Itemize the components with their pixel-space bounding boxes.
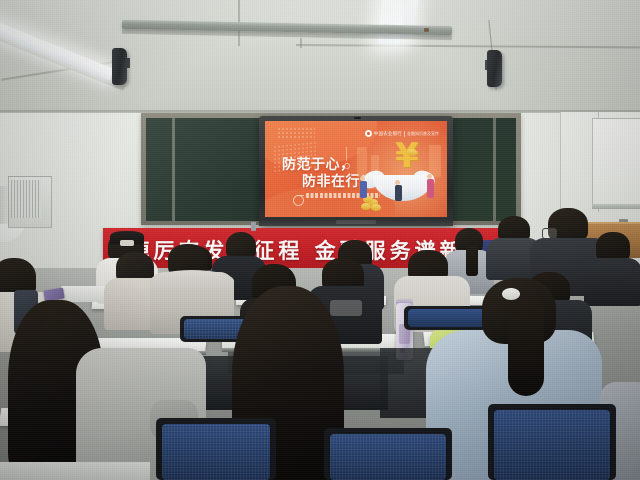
illustration-building (429, 145, 441, 177)
illustration-person-head (395, 180, 400, 185)
student-torso (584, 258, 640, 306)
bank-logo-icon (365, 130, 372, 137)
wall-speaker-right-icon (487, 50, 502, 87)
banner-clip (251, 222, 256, 231)
rail-fitting (424, 28, 429, 32)
hair-tie (502, 288, 520, 300)
wall-speaker-left-icon (112, 48, 127, 85)
cap-brim (120, 240, 134, 246)
slide-subtitle-dash (297, 195, 304, 196)
whiteboard-right (592, 118, 640, 206)
illustration-person (360, 181, 367, 198)
illustration-person (395, 185, 402, 201)
ceiling-seam (296, 44, 640, 52)
illustration-person-head (360, 176, 365, 181)
illustration-building (357, 147, 367, 177)
illustration-person (427, 179, 434, 198)
chair-mesh (494, 410, 610, 480)
slide-headline-line1: 防范于心， (282, 157, 355, 173)
coin-icon (407, 149, 417, 156)
whiteboard-tray (592, 204, 640, 209)
slide-decor-ring (293, 195, 304, 206)
student-ponytail (466, 246, 478, 276)
desk-front-edge (0, 462, 150, 480)
presentation-slide[interactable]: 中国农业银行 金融知识普及宣传 防范于心， 防非在行！ ¥ (265, 121, 447, 217)
student-ponytail (508, 300, 544, 396)
chair-mesh (330, 434, 446, 480)
ceiling (0, 0, 640, 116)
chair-mesh (162, 424, 270, 480)
slide-illustration: ¥ (351, 137, 445, 217)
coin-icon (371, 204, 381, 211)
student-shoulders (150, 270, 234, 292)
smart-display-brand (336, 220, 376, 224)
chair-back[interactable] (408, 309, 486, 327)
classroom-photo: 中国农业银行 金融知识普及宣传 防范于心， 防非在行！ ¥ (0, 0, 640, 480)
tshirt-graphic (330, 300, 362, 316)
camera-icon (354, 117, 361, 119)
air-vent-grille-icon (11, 180, 41, 218)
slide-decor-dots (277, 127, 315, 139)
ceiling-seam (300, 38, 302, 48)
illustration-person-head (427, 174, 432, 179)
